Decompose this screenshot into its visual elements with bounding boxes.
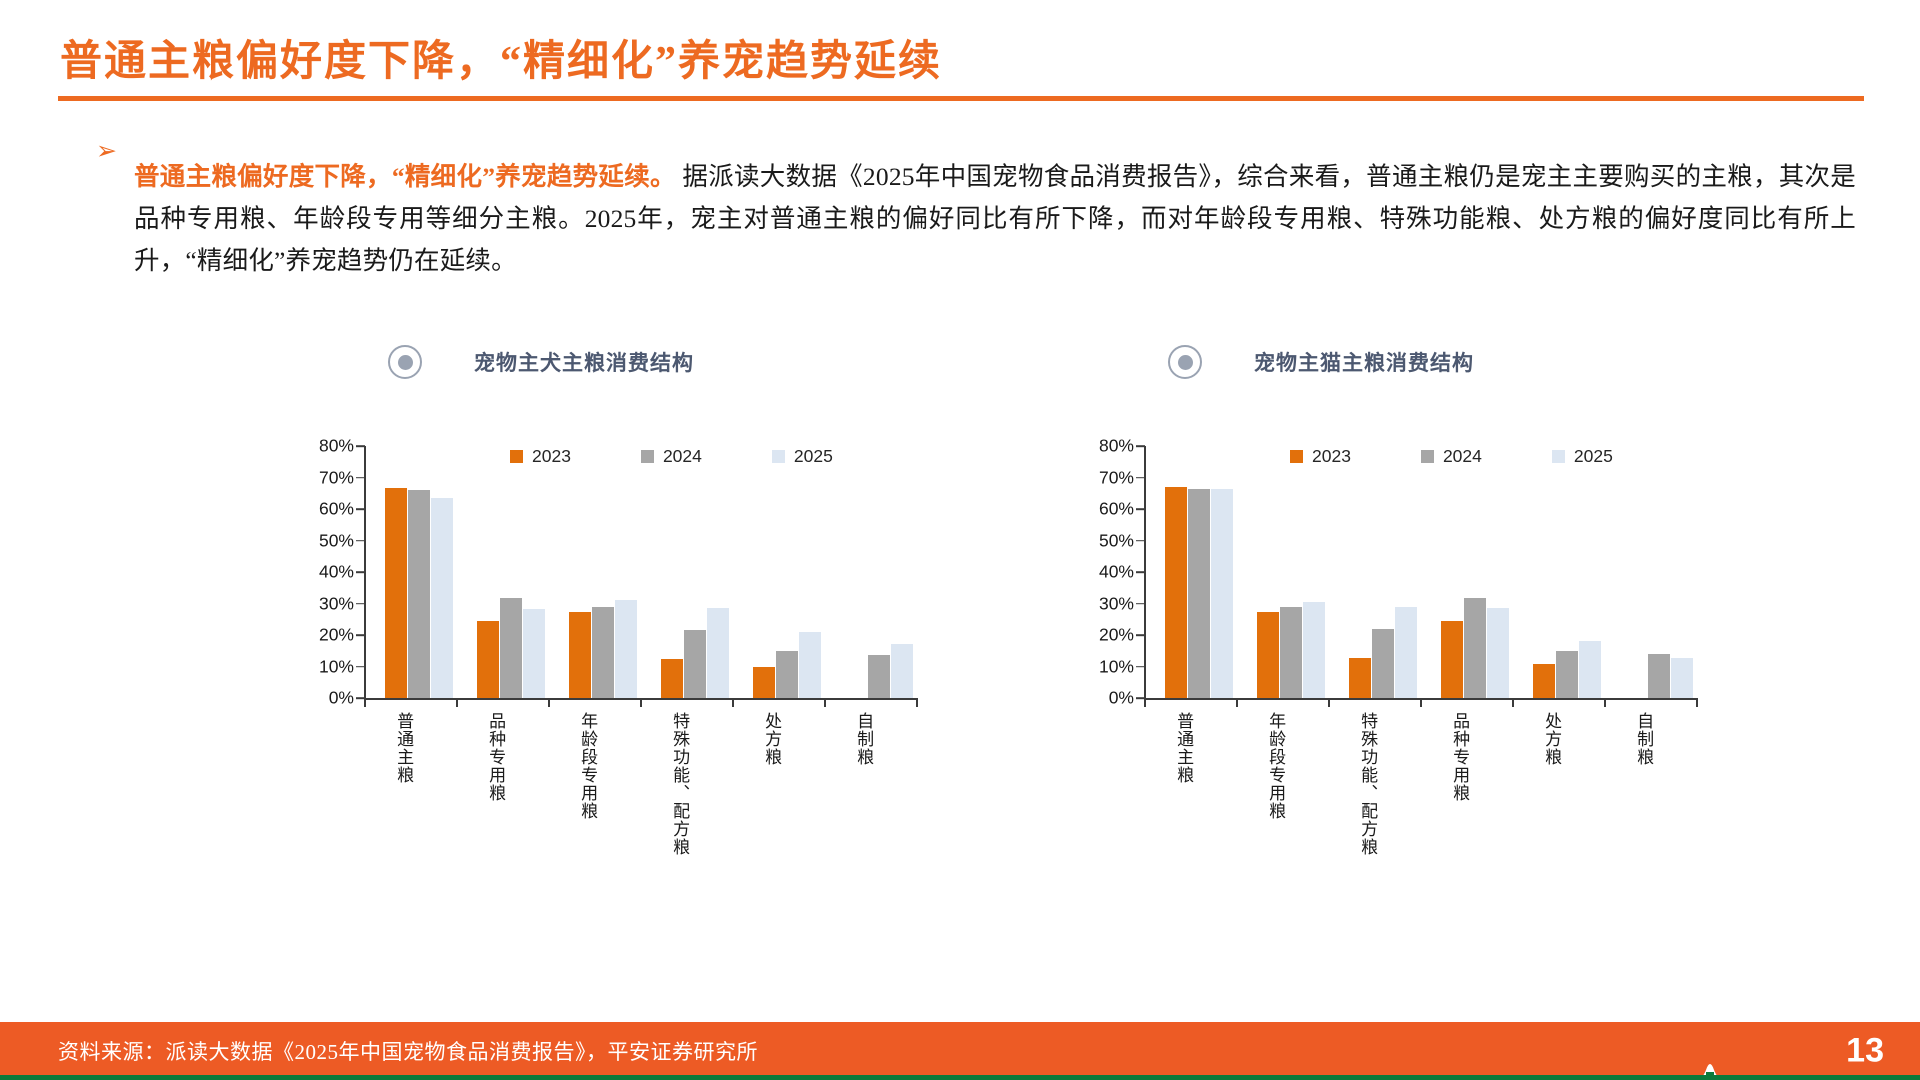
y-axis-tick-label: 60% xyxy=(319,499,354,520)
x-axis-tick xyxy=(732,698,734,707)
bullet-lead-text: 普通主粮偏好度下降，“精细化”养宠趋势延续。 xyxy=(134,162,676,191)
footer-bar: 资料来源：派读大数据《2025年中国宠物食品消费报告》，平安证券研究所 13 xyxy=(0,1022,1920,1080)
y-axis-labels: 0%10%20%30%40%50%60%70%80% xyxy=(1080,446,1144,698)
x-axis-category-labels: 普通主粮年龄段专用粮特殊功能、配方粮品种专用粮处方粮自制粮 xyxy=(1145,712,1697,862)
y-axis-tick-label: 70% xyxy=(319,467,354,488)
bar xyxy=(707,608,729,698)
slide-header: 普通主粮偏好度下降，“精细化”养宠趋势延续 xyxy=(58,38,1864,101)
x-axis-category-label: 自制粮 xyxy=(1634,712,1653,766)
x-axis-tick xyxy=(824,698,826,707)
legend-swatch-icon xyxy=(1552,450,1565,463)
bar-group xyxy=(753,446,822,698)
x-axis-category-label: 年龄段专用粮 xyxy=(1266,712,1285,820)
bar xyxy=(615,600,637,698)
x-axis-tick xyxy=(548,698,550,707)
bar xyxy=(1165,487,1187,698)
y-axis-tick-label: 0% xyxy=(1109,688,1134,709)
x-axis-category-labels: 普通主粮品种专用粮年龄段专用粮特殊功能、配方粮处方粮自制粮 xyxy=(365,712,917,862)
y-axis-tick-label: 0% xyxy=(329,688,354,709)
legend-item: 2025 xyxy=(772,446,833,467)
x-axis-category-label: 处方粮 xyxy=(1542,712,1561,766)
x-axis-tick xyxy=(1420,698,1422,707)
x-axis-tick xyxy=(1236,698,1238,707)
legend-label: 2025 xyxy=(1574,446,1613,467)
bar xyxy=(1372,629,1394,698)
chart-panel-cat-header: 宠物主猫主粮消费结构 xyxy=(1080,340,1920,384)
bar xyxy=(1533,664,1555,698)
bar xyxy=(661,659,683,698)
x-axis-tick xyxy=(916,698,918,707)
x-axis-tick xyxy=(456,698,458,707)
legend-label: 2024 xyxy=(663,446,702,467)
bar xyxy=(477,621,499,698)
bar-chart-dog: 2023202420250%10%20%30%40%50%60%70%80%普通… xyxy=(300,446,1180,866)
y-axis-tick-label: 50% xyxy=(1099,530,1134,551)
legend-item: 2024 xyxy=(1421,446,1482,467)
bar xyxy=(569,612,591,698)
legend-item: 2023 xyxy=(510,446,571,467)
x-axis-tick xyxy=(1604,698,1606,707)
bar xyxy=(431,498,453,698)
y-axis-tick-label: 10% xyxy=(1099,656,1134,677)
chart-panel-cat-title: 宠物主猫主粮消费结构 xyxy=(1254,347,1474,377)
y-axis-tick-label: 40% xyxy=(1099,562,1134,583)
legend-swatch-icon xyxy=(1290,450,1303,463)
bar xyxy=(868,655,890,698)
chart-legend: 202320242025 xyxy=(510,446,833,467)
bar xyxy=(592,607,614,698)
x-axis-tick xyxy=(1328,698,1330,707)
bar xyxy=(1188,489,1210,698)
x-axis-category-label: 普通主粮 xyxy=(1174,712,1193,784)
legend-label: 2024 xyxy=(1443,446,1482,467)
title-divider xyxy=(58,96,1864,101)
bar-group xyxy=(385,446,454,698)
bar xyxy=(1579,641,1601,698)
bar xyxy=(891,644,913,698)
x-axis-category-label: 品种专用粮 xyxy=(486,712,505,802)
legend-swatch-icon xyxy=(641,450,654,463)
bar xyxy=(408,490,430,698)
x-axis-category-label: 年龄段专用粮 xyxy=(578,712,597,820)
legend-swatch-icon xyxy=(772,450,785,463)
bar xyxy=(684,630,706,698)
legend-label: 2025 xyxy=(794,446,833,467)
bar-group xyxy=(1533,446,1602,698)
bar-group xyxy=(1257,446,1326,698)
chart-panel-dog-title: 宠物主犬主粮消费结构 xyxy=(474,347,694,377)
bar-group xyxy=(1349,446,1418,698)
bar-group xyxy=(661,446,730,698)
y-axis-labels: 0%10%20%30%40%50%60%70%80% xyxy=(300,446,364,698)
y-axis-tick-label: 50% xyxy=(319,530,354,551)
bar xyxy=(1303,602,1325,698)
bar xyxy=(1211,489,1233,698)
plot-area: 0%10%20%30%40%50%60%70%80%普通主粮品种专用粮年龄段专用… xyxy=(300,446,1180,714)
bar xyxy=(1648,654,1670,698)
y-axis-tick-label: 30% xyxy=(319,593,354,614)
y-axis-tick-label: 10% xyxy=(319,656,354,677)
legend-item: 2024 xyxy=(641,446,702,467)
x-axis-tick xyxy=(364,698,366,707)
legend-label: 2023 xyxy=(532,446,571,467)
y-axis-tick-label: 30% xyxy=(1099,593,1134,614)
bullseye-icon xyxy=(388,345,422,379)
bar-group xyxy=(477,446,546,698)
bars-container xyxy=(365,446,917,698)
bar xyxy=(1671,658,1693,698)
bar xyxy=(523,609,545,698)
x-axis-tick xyxy=(1696,698,1698,707)
chart-panel-cat: 宠物主猫主粮消费结构 2023202420250%10%20%30%40%50%… xyxy=(1080,340,1920,866)
x-axis-category-label: 特殊功能、配方粮 xyxy=(670,712,689,856)
x-axis-tick xyxy=(1144,698,1146,707)
bar xyxy=(1441,621,1463,698)
bar xyxy=(1487,608,1509,698)
y-axis-tick-label: 60% xyxy=(1099,499,1134,520)
bar xyxy=(1464,598,1486,698)
bar-group xyxy=(845,446,914,698)
y-axis-tick-label: 20% xyxy=(1099,625,1134,646)
bar xyxy=(500,598,522,698)
source-note: 资料来源：派读大数据《2025年中国宠物食品消费报告》，平安证券研究所 xyxy=(58,1036,758,1066)
footer-underline xyxy=(0,1075,1920,1080)
chart-panel-dog: 宠物主犬主粮消费结构 2023202420250%10%20%30%40%50%… xyxy=(300,340,1180,866)
bar xyxy=(1280,607,1302,698)
y-axis-tick-label: 80% xyxy=(319,436,354,457)
y-axis-tick-label: 80% xyxy=(1099,436,1134,457)
bar-group xyxy=(1441,446,1510,698)
legend-swatch-icon xyxy=(510,450,523,463)
slide-root: 普通主粮偏好度下降，“精细化”养宠趋势延续 ➢ 普通主粮偏好度下降，“精细化”养… xyxy=(0,0,1920,1080)
chart-panel-dog-header: 宠物主犬主粮消费结构 xyxy=(300,340,1180,384)
bar xyxy=(385,488,407,698)
page-title: 普通主粮偏好度下降，“精细化”养宠趋势延续 xyxy=(58,38,1864,94)
bullet-paragraph: ➢ 普通主粮偏好度下降，“精细化”养宠趋势延续。 据派读大数据《2025年中国宠… xyxy=(96,130,1856,307)
y-axis-tick-label: 40% xyxy=(319,562,354,583)
bars-container xyxy=(1145,446,1697,698)
x-axis-category-label: 普通主粮 xyxy=(394,712,413,784)
x-axis-tick xyxy=(1512,698,1514,707)
x-axis-tick xyxy=(640,698,642,707)
legend-item: 2023 xyxy=(1290,446,1351,467)
bar-group xyxy=(569,446,638,698)
legend-swatch-icon xyxy=(1421,450,1434,463)
x-axis-category-label: 特殊功能、配方粮 xyxy=(1358,712,1377,856)
legend-item: 2025 xyxy=(1552,446,1613,467)
x-axis-category-label: 自制粮 xyxy=(854,712,873,766)
bar xyxy=(1395,607,1417,698)
page-number: 13 xyxy=(1846,1032,1884,1071)
plot-area: 0%10%20%30%40%50%60%70%80%普通主粮年龄段专用粮特殊功能… xyxy=(1080,446,1920,714)
y-axis-tick-label: 70% xyxy=(1099,467,1134,488)
bar-chart-cat: 2023202420250%10%20%30%40%50%60%70%80%普通… xyxy=(1080,446,1920,866)
bar-group xyxy=(1625,446,1694,698)
bar-group xyxy=(1165,446,1234,698)
y-axis-tick-label: 20% xyxy=(319,625,354,646)
bar xyxy=(753,667,775,698)
bullet-arrow-icon: ➢ xyxy=(96,130,134,172)
bullseye-icon xyxy=(1168,345,1202,379)
x-axis-category-label: 品种专用粮 xyxy=(1450,712,1469,802)
bar xyxy=(776,651,798,698)
chart-legend: 202320242025 xyxy=(1290,446,1613,467)
bullet-body: 普通主粮偏好度下降，“精细化”养宠趋势延续。 据派读大数据《2025年中国宠物食… xyxy=(134,156,1856,282)
legend-label: 2023 xyxy=(1312,446,1351,467)
bar xyxy=(799,632,821,698)
bar xyxy=(1556,651,1578,698)
bar xyxy=(1349,658,1371,698)
bar xyxy=(1257,612,1279,698)
x-axis-category-label: 处方粮 xyxy=(762,712,781,766)
